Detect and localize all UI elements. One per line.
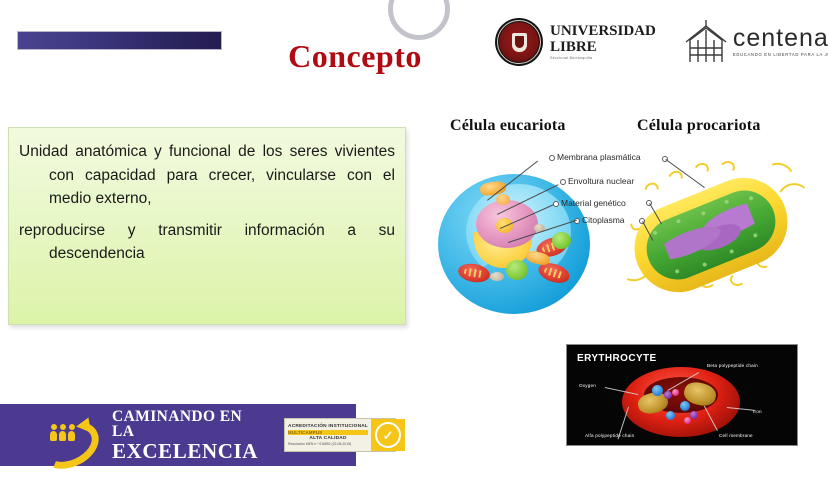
people-icon bbox=[50, 431, 75, 441]
ribosome-dot bbox=[676, 219, 681, 224]
concept-paragraph-2: reproducirse y transmitir información a … bbox=[19, 219, 395, 266]
erythrocyte-label-iron: Iron bbox=[753, 409, 762, 414]
oxygen-molecule-shape bbox=[680, 401, 690, 411]
pilus-shape bbox=[642, 180, 662, 200]
accreditation-text: ACREDITACIÓN INSTITUCIONAL MULTICAMPUS A… bbox=[285, 419, 371, 451]
erythrocyte-label-alfa-chain: Alfa polypeptide chain bbox=[585, 433, 634, 438]
eukaryote-heading: Célula eucariota bbox=[450, 117, 566, 135]
accreditation-line1: ACREDITACIÓN INSTITUCIONAL bbox=[288, 424, 368, 429]
heme-group-shape bbox=[684, 417, 691, 424]
genetic-material-shape bbox=[660, 201, 760, 273]
universidad-libre-line1: UNIVERSIDAD bbox=[550, 24, 656, 39]
pilus-shape bbox=[719, 160, 736, 175]
vesicle-shape bbox=[496, 194, 510, 205]
accreditation-line2: MULTICAMPUS bbox=[288, 430, 368, 435]
oxygen-molecule-shape bbox=[652, 385, 663, 396]
universidad-libre-logo: UNIVERSIDAD LIBRE Seccional Barranquilla bbox=[495, 18, 656, 66]
seal-ring bbox=[497, 20, 541, 64]
footer-banner: CAMINANDO EN LA EXCELENCIA ACREDITACIÓN … bbox=[0, 404, 356, 466]
erythrocyte-label-oxygen: Oxygen bbox=[579, 383, 596, 388]
footer-slogan-line1: CAMINANDO EN LA bbox=[112, 409, 258, 440]
concept-text-box: Unidad anatómica y funcional de los sere… bbox=[8, 127, 406, 325]
erythrocyte-label-cell-membrane: Cell membrane bbox=[719, 433, 753, 438]
prokaryotic-cell-illustration bbox=[614, 155, 814, 330]
centenario-building-icon bbox=[684, 20, 728, 64]
decorative-purple-bar bbox=[17, 31, 222, 50]
centenario-tagline: EDUCANDO EN LIBERTAD PARA LA JUSTICIA Y … bbox=[733, 53, 828, 57]
bacterial-cytoplasm-shape bbox=[637, 181, 784, 289]
prokaryote-heading: Célula procariota bbox=[637, 117, 761, 135]
heme-group-shape bbox=[672, 389, 679, 396]
vesicle-shape bbox=[552, 232, 571, 249]
university-seal-icon bbox=[495, 18, 543, 66]
universidad-libre-wordmark: UNIVERSIDAD LIBRE Seccional Barranquilla bbox=[550, 24, 656, 61]
logo-group: UNIVERSIDAD LIBRE Seccional Barranquilla… bbox=[495, 18, 828, 66]
ribosome-dot bbox=[652, 230, 657, 235]
label-citoplasma: Citoplasma bbox=[582, 215, 625, 225]
universidad-libre-line2: LIBRE bbox=[550, 40, 656, 55]
centenario-wordmark: centenario EDUCANDO EN LIBERTAD PARA LA … bbox=[733, 26, 828, 57]
oxygen-molecule-shape bbox=[666, 411, 675, 420]
accreditation-seal: ACREDITACIÓN INSTITUCIONAL MULTICAMPUS A… bbox=[284, 418, 396, 452]
ribosome-dot bbox=[724, 199, 729, 204]
organelle-shape bbox=[490, 272, 504, 281]
erythrocyte-title: ERYTHROCYTE bbox=[577, 353, 657, 364]
ribosome-dot bbox=[701, 211, 706, 216]
ribosome-dot bbox=[675, 269, 680, 274]
iron-atom-shape bbox=[664, 391, 672, 399]
accreditation-line3: ALTA CALIDAD bbox=[288, 436, 368, 441]
universidad-libre-tagline: Seccional Barranquilla bbox=[550, 57, 656, 61]
centenario-logo: centenario EDUCANDO EN LIBERTAD PARA LA … bbox=[684, 20, 828, 64]
label-envoltura-nuclear: Envoltura nuclear bbox=[568, 176, 634, 186]
label-material-genetico: Material genético bbox=[561, 198, 626, 208]
page-title: Concepto bbox=[230, 38, 480, 75]
footer-slogan-line2: EXCELENCIA bbox=[112, 441, 258, 462]
swoosh-arrow-icon bbox=[38, 417, 100, 453]
red-blood-cell-shape bbox=[622, 367, 740, 437]
label-membrana-plasmatica: Membrana plasmática bbox=[557, 152, 641, 162]
pilus-shape bbox=[692, 161, 711, 178]
ribosome-dot bbox=[729, 249, 734, 254]
iron-atom-shape bbox=[690, 411, 698, 419]
ribosome-dot bbox=[749, 196, 754, 201]
footer-slogan: CAMINANDO EN LA EXCELENCIA bbox=[112, 409, 258, 462]
leader-dot bbox=[549, 155, 555, 161]
decorative-ring-shape bbox=[388, 0, 450, 40]
leader-dot bbox=[560, 179, 566, 185]
centenario-name: centenario bbox=[733, 26, 828, 51]
pilus-shape bbox=[730, 273, 745, 286]
erythrocyte-label-beta-chain: Beta polypeptide chain bbox=[707, 363, 758, 368]
accreditation-check-badge: ✓ bbox=[371, 419, 405, 451]
ribosome-dot bbox=[702, 262, 707, 267]
concept-paragraph-1: Unidad anatómica y funcional de los sere… bbox=[19, 140, 395, 211]
leader-dot bbox=[553, 201, 559, 207]
vesicle-shape bbox=[506, 260, 528, 280]
erythrocyte-figure: ERYTHROCYTE Oxygen Beta polypeptide chai… bbox=[566, 344, 798, 446]
accreditation-line4: Resolución MEN n.º 016892 (22-08-2019) bbox=[288, 442, 368, 446]
check-icon: ✓ bbox=[375, 422, 401, 448]
